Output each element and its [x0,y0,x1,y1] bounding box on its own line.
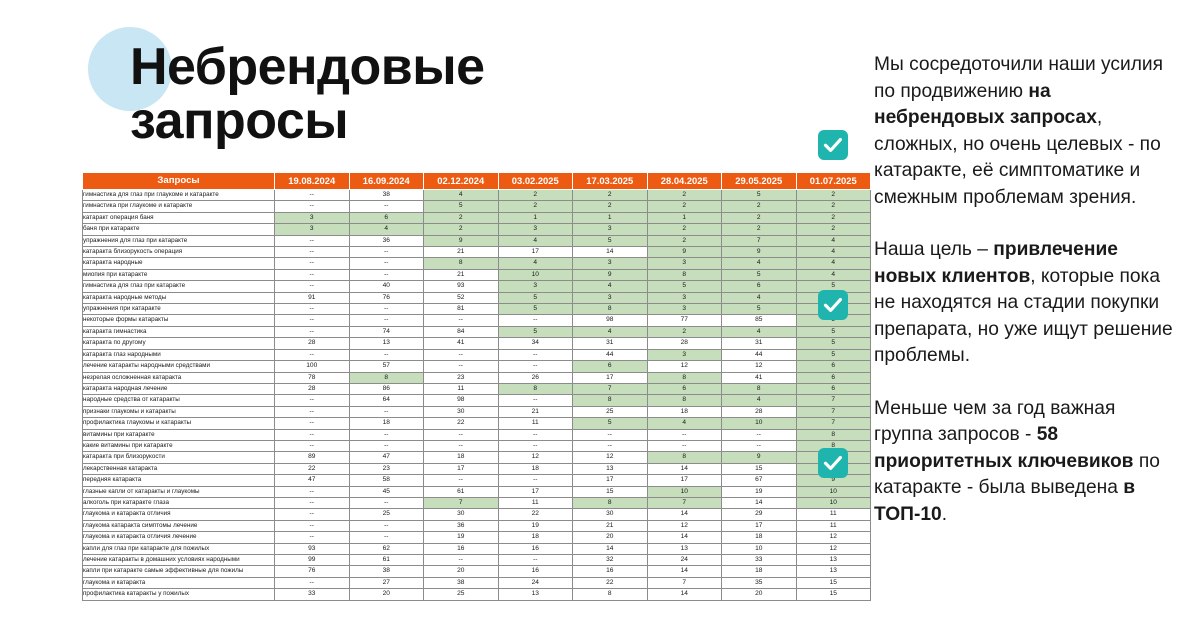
position-cell: 7 [722,235,797,246]
position-cell: 14 [647,463,722,474]
position-cell: 10 [498,269,573,280]
position-cell: 8 [647,452,722,463]
position-cell: -- [424,475,499,486]
position-cell: 84 [424,326,499,337]
position-cell: -- [498,555,573,566]
position-cell: 17 [424,463,499,474]
position-cell: 2 [647,224,722,235]
position-cell: 76 [275,566,350,577]
table-row: лечение катаракты в домашних условиях на… [83,555,871,566]
query-cell: лечение катаракты в домашних условиях на… [83,555,275,566]
position-cell: 38 [349,190,424,201]
query-cell: катаракта глаз народными [83,349,275,360]
position-cell: 67 [722,475,797,486]
position-cell: 3 [498,224,573,235]
table-row: катаракта по другому281341343128315 [83,338,871,349]
position-cell: 7 [424,497,499,508]
position-cell: 26 [498,372,573,383]
table-row: незрелая осложненная катаракта7882326178… [83,372,871,383]
position-cell: -- [275,281,350,292]
position-cell: 8 [349,372,424,383]
position-cell: 8 [647,269,722,280]
position-cell: 2 [573,190,648,201]
position-cell: 12 [722,361,797,372]
position-cell: 17 [498,247,573,258]
position-cell: 22 [424,418,499,429]
position-cell: -- [275,190,350,201]
position-cell: 47 [275,475,350,486]
position-cell: 33 [275,589,350,600]
position-cell: 17 [573,475,648,486]
position-cell: -- [349,304,424,315]
position-cell: 5 [498,326,573,337]
position-cell: 81 [424,304,499,315]
keywords-table-container: Запросы19.08.202416.09.202402.12.202403.… [82,172,796,601]
position-cell: 5 [424,201,499,212]
position-cell: -- [647,429,722,440]
position-cell: 3 [647,349,722,360]
position-cell: 98 [573,315,648,326]
position-cell: 4 [722,395,797,406]
query-cell: гимнастика при глаукоме и катаракте [83,201,275,212]
table-row: алкоголь при катаракте глаза----71187141… [83,497,871,508]
position-cell: 16 [498,566,573,577]
title-block: Небрендовые запросы [88,22,788,152]
position-cell: 18 [349,418,424,429]
position-cell: 3 [573,258,648,269]
table-row: глаукома и катаракта отличия--2530223014… [83,509,871,520]
position-cell: 2 [647,235,722,246]
position-cell: 18 [498,463,573,474]
position-cell: 18 [424,452,499,463]
position-cell: 14 [647,509,722,520]
position-cell: -- [498,395,573,406]
position-cell: 2 [424,212,499,223]
position-cell: 17 [573,372,648,383]
query-cell: глаукома и катаракта [83,577,275,588]
position-cell: 58 [349,475,424,486]
position-cell: 5 [573,418,648,429]
position-cell: -- [424,349,499,360]
keywords-table: Запросы19.08.202416.09.202402.12.202403.… [82,172,871,601]
position-cell: 20 [573,532,648,543]
position-cell: 19 [498,520,573,531]
position-cell: 32 [573,555,648,566]
table-row: капли для глаз при катаракте для пожилых… [83,543,871,554]
position-cell: 1 [647,212,722,223]
position-cell: 5 [498,304,573,315]
query-cell: глазные капли от катаракты и глаукомы [83,486,275,497]
position-cell: -- [647,440,722,451]
table-row: катаракта при близорукости8947181212898 [83,452,871,463]
table-row: глаукома катаракта симптомы лечение----3… [83,520,871,531]
position-cell: 85 [722,315,797,326]
query-cell: алкоголь при катаракте глаза [83,497,275,508]
position-cell: -- [275,269,350,280]
position-cell: 7 [573,383,648,394]
table-row: катаракта народные----843344 [83,258,871,269]
position-cell: 13 [498,589,573,600]
position-cell: 4 [573,281,648,292]
position-cell: 13 [349,338,424,349]
table-row: профилактика глаукомы и катаракты--18221… [83,418,871,429]
table-row: упражнения при катаракте----8158355 [83,304,871,315]
column-header-date-3[interactable]: 02.12.2024 [424,173,499,190]
table-row: некоторые формы катаракты--------9877855 [83,315,871,326]
position-cell: 15 [573,486,648,497]
position-cell: 11 [498,497,573,508]
query-cell: народные средства от катаракты [83,395,275,406]
position-cell: -- [424,361,499,372]
position-cell: 11 [498,418,573,429]
position-cell: 7 [647,497,722,508]
position-cell: 16 [424,543,499,554]
position-cell: 8 [573,304,648,315]
position-cell: 2 [647,190,722,201]
position-cell: -- [498,361,573,372]
position-cell: 6 [647,383,722,394]
position-cell: -- [275,406,350,417]
position-cell: 6 [573,361,648,372]
position-cell: 12 [647,361,722,372]
position-cell: 1 [498,212,573,223]
table-row: народные средства от катаракты--6498--88… [83,395,871,406]
position-cell: 21 [424,269,499,280]
position-cell: -- [275,326,350,337]
position-cell: 17 [722,520,797,531]
table-row: упражнения для глаз при катаракте--36945… [83,235,871,246]
position-cell: -- [349,520,424,531]
position-cell: -- [349,429,424,440]
position-cell: -- [424,555,499,566]
position-cell: 22 [275,463,350,474]
query-cell: катаракта народная лечение [83,383,275,394]
position-cell: 1 [573,212,648,223]
position-cell: -- [349,440,424,451]
table-row: гимнастика для глаз при катаракте--40933… [83,281,871,292]
position-cell: 91 [275,292,350,303]
position-cell: 5 [722,190,797,201]
position-cell: 89 [275,452,350,463]
check-icon [818,448,848,478]
column-header-date-5[interactable]: 17.03.2025 [573,173,648,190]
position-cell: 8 [498,383,573,394]
query-cell: глаукома и катаракта отличия лечение [83,532,275,543]
position-cell: 52 [424,292,499,303]
position-cell: 44 [722,349,797,360]
position-cell: -- [349,247,424,258]
position-cell: -- [498,440,573,451]
position-cell: 2 [498,190,573,201]
position-cell: 64 [349,395,424,406]
position-cell: 14 [647,589,722,600]
position-cell: 8 [573,395,648,406]
panel-paragraph-3: Меньше чем за год важная группа запросов… [818,396,1178,529]
position-cell: -- [498,315,573,326]
table-row: катаракта народные методы91765253345 [83,292,871,303]
position-cell: -- [424,440,499,451]
position-cell: 19 [722,486,797,497]
position-cell: 16 [498,543,573,554]
table-row: глазные капли от катаракты и глаукомы--4… [83,486,871,497]
position-cell: -- [498,349,573,360]
position-cell: 8 [573,589,648,600]
table-row: катаракта близорукость операция----21171… [83,247,871,258]
column-header-date-4[interactable]: 03.02.2025 [498,173,573,190]
position-cell: 21 [498,406,573,417]
position-cell: 93 [275,543,350,554]
position-cell: 18 [722,532,797,543]
position-cell: -- [275,440,350,451]
position-cell: 25 [573,406,648,417]
query-cell: катаракта народные методы [83,292,275,303]
position-cell: 13 [647,543,722,554]
query-cell: баня при катаракте [83,224,275,235]
check-icon [818,130,848,160]
position-cell: 4 [349,224,424,235]
body-text: Меньше чем за год важная группа запросов… [874,398,1115,446]
position-cell: 30 [424,406,499,417]
query-cell: катаракта гимнастика [83,326,275,337]
position-cell: 21 [424,247,499,258]
position-cell: 36 [349,235,424,246]
table-row: лечение катаракты народными средствами10… [83,361,871,372]
position-cell: 61 [349,555,424,566]
table-row: передняя катаракта4758----1717679 [83,475,871,486]
position-cell: 98 [424,395,499,406]
table-row: профилактика катаракты у пожилых33202513… [83,589,871,600]
position-cell: 86 [349,383,424,394]
position-cell: 14 [573,543,648,554]
position-cell: 3 [573,292,648,303]
position-cell: 5 [722,304,797,315]
position-cell: 25 [349,509,424,520]
position-cell: 3 [647,258,722,269]
query-cell: лечение катаракты народными средствами [83,361,275,372]
position-cell: -- [275,509,350,520]
table-row: катаракта гимнастика--748454245 [83,326,871,337]
position-cell: 74 [349,326,424,337]
query-cell: капли при катаракте самые эффективные дл… [83,566,275,577]
position-cell: 15 [722,463,797,474]
table-body: гимнастика для глаз при глаукоме и катар… [83,190,871,601]
position-cell: 12 [647,520,722,531]
body-text: Наша цель – [874,239,993,260]
position-cell: 28 [647,338,722,349]
position-cell: 5 [722,269,797,280]
position-cell: 4 [722,258,797,269]
query-cell: витамины при катаракте [83,429,275,440]
position-cell: 22 [498,509,573,520]
body-text: Мы сосредоточили наши усилия по продвиже… [874,54,1163,102]
query-cell: лекарственная катаракта [83,463,275,474]
position-cell: -- [275,258,350,269]
position-cell: 2 [722,224,797,235]
position-cell: -- [573,429,648,440]
query-cell: профилактика катаракты у пожилых [83,589,275,600]
position-cell: 57 [349,361,424,372]
position-cell: 35 [722,577,797,588]
position-cell: 4 [424,190,499,201]
position-cell: 93 [424,281,499,292]
position-cell: -- [275,418,350,429]
table-row: катаракта глаз народными--------443445 [83,349,871,360]
position-cell: -- [349,497,424,508]
table-row: глаукома и катаракта отличия лечение----… [83,532,871,543]
query-cell: гимнастика для глаз при глаукоме и катар… [83,190,275,201]
position-cell: 8 [647,395,722,406]
position-cell: -- [275,247,350,258]
table-row: баня при катаракте34233222 [83,224,871,235]
query-cell: признаки глаукомы и катаракты [83,406,275,417]
table-row: признаки глаукомы и катаракты----3021251… [83,406,871,417]
position-cell: -- [349,315,424,326]
position-cell: 12 [498,452,573,463]
position-cell: 16 [573,566,648,577]
position-cell: 14 [573,247,648,258]
position-cell: 28 [722,406,797,417]
position-cell: 4 [498,235,573,246]
query-cell: миопия при катаракте [83,269,275,280]
position-cell: -- [275,486,350,497]
position-cell: 23 [349,463,424,474]
position-cell: 6 [349,212,424,223]
position-cell: 10 [722,543,797,554]
query-cell: катаракта народные [83,258,275,269]
page-title: Небрендовые запросы [130,40,485,148]
position-cell: 18 [647,406,722,417]
table-row: гимнастика для глаз при глаукоме и катар… [83,190,871,201]
position-cell: -- [275,532,350,543]
position-cell: 4 [722,326,797,337]
position-cell: -- [573,440,648,451]
query-cell: катаракт операция баня [83,212,275,223]
position-cell: 22 [573,577,648,588]
position-cell: 2 [573,201,648,212]
table-row: витамины при катаракте--------------8 [83,429,871,440]
position-cell: 31 [722,338,797,349]
position-cell: 5 [647,281,722,292]
check-icon [818,290,848,320]
position-cell: -- [722,440,797,451]
position-cell: 24 [647,555,722,566]
query-cell: упражнения для глаз при катаракте [83,235,275,246]
position-cell: 7 [647,577,722,588]
position-cell: 18 [722,566,797,577]
column-header-date-1[interactable]: 19.08.2024 [275,173,350,190]
table-row: глаукома и катаракта--2738242273515 [83,577,871,588]
position-cell: 4 [647,418,722,429]
position-cell: 23 [424,372,499,383]
position-cell: 9 [424,235,499,246]
position-cell: 76 [349,292,424,303]
position-cell: -- [424,315,499,326]
column-header-date-2[interactable]: 16.09.2024 [349,173,424,190]
position-cell: 8 [722,383,797,394]
position-cell: 47 [349,452,424,463]
position-cell: 30 [573,509,648,520]
position-cell: 44 [573,349,648,360]
position-cell: 100 [275,361,350,372]
position-cell: -- [349,406,424,417]
position-cell: 3 [647,292,722,303]
position-cell: 28 [275,338,350,349]
position-cell: -- [349,532,424,543]
position-cell: -- [275,497,350,508]
position-cell: 77 [647,315,722,326]
position-cell: 20 [722,589,797,600]
position-cell: -- [722,429,797,440]
query-cell: глаукома и катаракта отличия [83,509,275,520]
position-cell: 2 [722,212,797,223]
query-cell: капли для глаз при катаракте для пожилых [83,543,275,554]
position-cell: 19 [424,532,499,543]
position-cell: 10 [647,486,722,497]
position-cell: 20 [349,589,424,600]
query-cell: катаракта близорукость операция [83,247,275,258]
position-cell: -- [424,429,499,440]
position-cell: 30 [424,509,499,520]
table-header: Запросы19.08.202416.09.202402.12.202403.… [83,173,871,190]
position-cell: 3 [498,281,573,292]
panel-paragraph-1: Мы сосредоточили наши усилия по продвиже… [818,52,1178,211]
position-cell: 17 [498,486,573,497]
position-cell: 5 [498,292,573,303]
column-header-date-6[interactable]: 28.04.2025 [647,173,722,190]
position-cell: 9 [573,269,648,280]
position-cell: 4 [498,258,573,269]
position-cell: 14 [647,566,722,577]
position-cell: -- [275,395,350,406]
query-cell: незрелая осложненная катаракта [83,372,275,383]
position-cell: 21 [573,520,648,531]
position-cell: 15 [796,589,871,600]
position-cell: 9 [647,247,722,258]
position-cell: 41 [424,338,499,349]
position-cell: 78 [275,372,350,383]
query-cell: катаракта при близорукости [83,452,275,463]
position-cell: 33 [722,555,797,566]
position-cell: 5 [573,235,648,246]
position-cell: 11 [424,383,499,394]
position-cell: -- [275,304,350,315]
position-cell: 3 [275,212,350,223]
position-cell: 12 [573,452,648,463]
text-panel: Мы сосредоточили наши усилия по продвиже… [818,52,1178,582]
position-cell: 20 [424,566,499,577]
table-row: гимнастика при глаукоме и катаракте----5… [83,201,871,212]
position-cell: 28 [275,383,350,394]
query-cell: катаракта по другому [83,338,275,349]
table-row: миопия при катаракте----21109854 [83,269,871,280]
column-header-queries[interactable]: Запросы [83,173,275,190]
position-cell: 3 [573,224,648,235]
table-row: какие витамины при катаракте------------… [83,440,871,451]
position-cell: -- [349,349,424,360]
position-cell: 8 [573,497,648,508]
position-cell: 36 [424,520,499,531]
position-cell: 41 [722,372,797,383]
position-cell: 25 [424,589,499,600]
panel-paragraph-2: Наша цель – привлечение новых клиентов, … [818,237,1178,370]
column-header-date-7[interactable]: 29.05.2025 [722,173,797,190]
body-text: . [942,504,947,525]
position-cell: 61 [424,486,499,497]
position-cell: 40 [349,281,424,292]
position-cell: 2 [647,201,722,212]
position-cell: 3 [275,224,350,235]
position-cell: 2 [424,224,499,235]
